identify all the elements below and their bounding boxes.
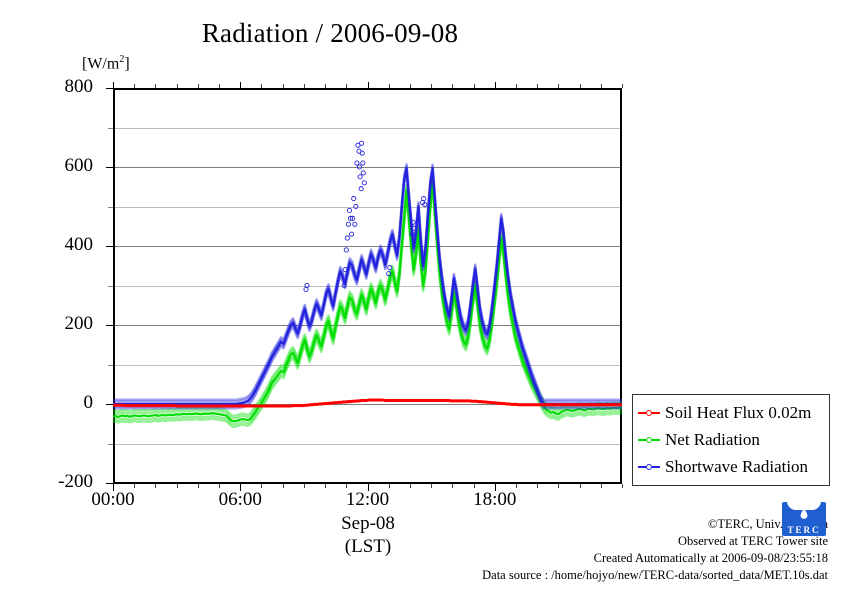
y-axis-label-tail: ]: [124, 55, 129, 72]
legend-swatch-icon: [638, 407, 660, 419]
radiation-chart-figure: Radiation / 2006-09-08 [W/m2] 8006004002…: [0, 0, 842, 595]
x-tick-minor: [580, 484, 581, 488]
legend-label: Shortwave Radiation: [665, 457, 808, 477]
scatter-point: [305, 283, 309, 287]
x-tick-minor: [261, 484, 262, 488]
chart-title: Radiation / 2006-09-08: [0, 18, 660, 49]
scatter-point: [357, 165, 361, 169]
series-line: [113, 166, 622, 401]
series-line: [113, 183, 622, 422]
x-tick-minor: [537, 484, 538, 488]
scatter-point: [344, 248, 348, 252]
footer-site: Observed at TERC Tower site: [308, 533, 828, 550]
scatter-point: [349, 232, 353, 236]
series-line: [113, 171, 622, 406]
scatter-point: [347, 208, 351, 212]
legend-swatch-icon: [638, 461, 660, 473]
x-tick-minor: [622, 484, 623, 488]
legend: Soil Heat Flux 0.02mNet RadiationShortwa…: [632, 394, 830, 486]
x-tick-minor: [601, 484, 602, 488]
y-axis-label: [W/m2]: [82, 54, 130, 73]
legend-label: Soil Heat Flux 0.02m: [665, 403, 811, 423]
x-tick-minor: [558, 484, 559, 488]
x-tick-minor: [219, 484, 220, 488]
terc-logo: TERC: [782, 502, 826, 536]
x-tick-minor: [177, 484, 178, 488]
x-tick-minor: [134, 484, 135, 488]
x-tick-minor: [346, 484, 347, 488]
terc-logo-badge: [782, 502, 826, 525]
scatter-point: [346, 222, 350, 226]
y-tick-label: 600: [33, 156, 93, 175]
x-tick-label: 06:00: [195, 489, 285, 511]
terc-logo-text: TERC: [782, 525, 826, 536]
x-tick-top: [622, 84, 623, 88]
x-tick-label: 18:00: [450, 489, 540, 511]
footer-credits: ©TERC, Univ. Tsukuba Observed at TERC To…: [308, 516, 828, 585]
x-tick-minor: [283, 484, 284, 488]
series-group: [113, 177, 622, 427]
y-axis-label-text: [W/m: [82, 55, 119, 72]
scatter-point: [360, 151, 364, 155]
x-tick-minor: [198, 484, 199, 488]
scatter-point: [362, 181, 366, 185]
x-tick-minor: [474, 484, 475, 488]
legend-item[interactable]: Net Radiation: [638, 426, 824, 453]
legend-item[interactable]: Soil Heat Flux 0.02m: [638, 399, 824, 426]
x-tick-minor: [410, 484, 411, 488]
scatter-point: [354, 204, 358, 208]
x-tick-minor: [516, 484, 517, 488]
series-line: [113, 177, 622, 416]
y-tick-label: 800: [33, 77, 93, 96]
scatter-point: [422, 197, 426, 201]
series-line: [113, 164, 622, 399]
x-tick-minor: [389, 484, 390, 488]
scatter-point: [359, 141, 363, 145]
series-group: [113, 164, 622, 408]
legend-swatch-icon: [638, 434, 660, 446]
y-tick-label: 0: [33, 393, 93, 412]
scatter-point: [359, 187, 363, 191]
footer-copyright: ©TERC, Univ. Tsukuba: [308, 516, 828, 533]
series-line: [113, 169, 622, 404]
scatter-point: [358, 175, 362, 179]
y-tick-label: 200: [33, 314, 93, 333]
scatter-point: [352, 197, 356, 201]
scatter-point: [345, 236, 349, 240]
legend-item[interactable]: Shortwave Radiation: [638, 453, 824, 480]
x-tick-label: 12:00: [323, 489, 413, 511]
x-tick-minor: [431, 484, 432, 488]
scatter-point: [361, 171, 365, 175]
x-tick-minor: [155, 484, 156, 488]
x-tick-minor: [304, 484, 305, 488]
series-line: [113, 173, 622, 408]
footer-data-source: Data source : /home/hojyo/new/TERC-data/…: [308, 567, 828, 584]
series-plot: [113, 88, 622, 483]
x-tick-minor: [452, 484, 453, 488]
footer-created: Created Automatically at 2006-09-08/23:5…: [308, 550, 828, 567]
scatter-point: [355, 161, 359, 165]
scatter-point: [353, 222, 357, 226]
scatter-point: [361, 161, 365, 165]
y-tick-label: 400: [33, 235, 93, 254]
x-tick-label: 00:00: [68, 489, 158, 511]
legend-label: Net Radiation: [665, 430, 760, 450]
x-tick-minor: [325, 484, 326, 488]
